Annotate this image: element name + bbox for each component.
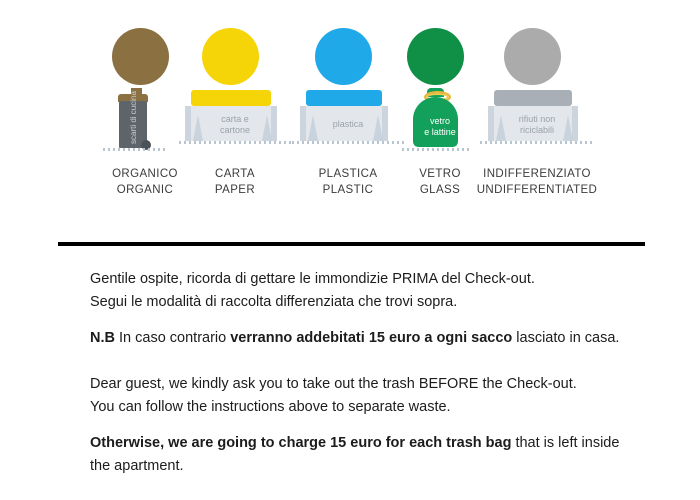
bin-label-it-organico: ORGANICO — [112, 168, 178, 180]
paragraph-spacer — [90, 314, 630, 327]
color-swatch-plastica — [315, 28, 372, 85]
nb-label: N.B — [90, 330, 115, 346]
color-swatch-carta — [202, 28, 259, 85]
waste-sorting-infographic: scarti di cucina ORGANICO ORGANIC carta … — [0, 0, 700, 232]
bin-label-indifferenziato: INDIFFERENZIATO UNDIFFERENTIATED — [472, 166, 602, 198]
bin-illustration-indifferenziato: rifiuti non riciclabili — [472, 88, 602, 160]
bin-label-en-indifferenziato: UNDIFFERENTIATED — [472, 182, 602, 198]
bin-caption-organico: scarti di cucina — [129, 102, 138, 144]
color-swatch-organico — [112, 28, 169, 85]
notice-en-line1: Dear guest, we kindly ask you to take ou… — [90, 373, 630, 396]
bin-caption-carta: carta e cartone — [175, 114, 295, 136]
notice-text-block: Gentile ospite, ricorda di gettare le im… — [90, 268, 630, 478]
paragraph-spacer-2 — [90, 419, 630, 432]
bin-illustration-carta: carta e cartone — [175, 88, 295, 160]
notice-it-line1: Gentile ospite, ricorda di gettare le im… — [90, 268, 630, 291]
bin-label-it-indifferenziato: INDIFFERENZIATO — [483, 168, 591, 180]
bin-label-it-carta: CARTA — [215, 168, 255, 180]
ground-line-vetro — [402, 148, 470, 151]
ground-line-indifferenziato — [480, 141, 592, 144]
bin-caption-indifferenziato: rifiuti non riciclabili — [472, 114, 602, 136]
notice-en-warning: Otherwise, we are going to charge 15 eur… — [90, 432, 630, 478]
color-swatch-indifferenziato — [504, 28, 561, 85]
bin-label-it-plastica: PLASTICA — [319, 168, 378, 180]
warning-bold-charge: Otherwise, we are going to charge 15 eur… — [90, 435, 511, 451]
bin-lid-carta — [191, 90, 271, 106]
bin-lid-indifferenziato — [494, 90, 572, 106]
bin-column-indifferenziato: rifiuti non riciclabili INDIFFERENZIATO … — [472, 0, 602, 210]
bin-column-carta: carta e cartone CARTA PAPER — [175, 0, 295, 210]
paragraph-spacer-large — [90, 350, 630, 373]
bin-label-carta: CARTA PAPER — [175, 166, 295, 198]
bin-label-it-vetro: VETRO — [419, 168, 461, 180]
ground-line-carta — [179, 141, 291, 144]
nb-plain-before: In caso contrario — [115, 330, 230, 346]
ground-line-organico — [103, 148, 167, 151]
nb-plain-after: lasciato in casa. — [512, 330, 619, 346]
bin-label-en-carta: PAPER — [175, 182, 295, 198]
nb-bold-charge: verranno addebitati 15 euro a ogni sacco — [230, 330, 512, 346]
notice-it-line2: Segui le modalità di raccolta differenzi… — [90, 291, 630, 314]
notice-en-line2: You can follow the instructions above to… — [90, 396, 630, 419]
color-swatch-vetro — [407, 28, 464, 85]
section-divider — [58, 242, 645, 246]
notice-it-nb: N.B In caso contrario verranno addebitat… — [90, 327, 630, 350]
bin-lid-plastica — [306, 90, 382, 106]
